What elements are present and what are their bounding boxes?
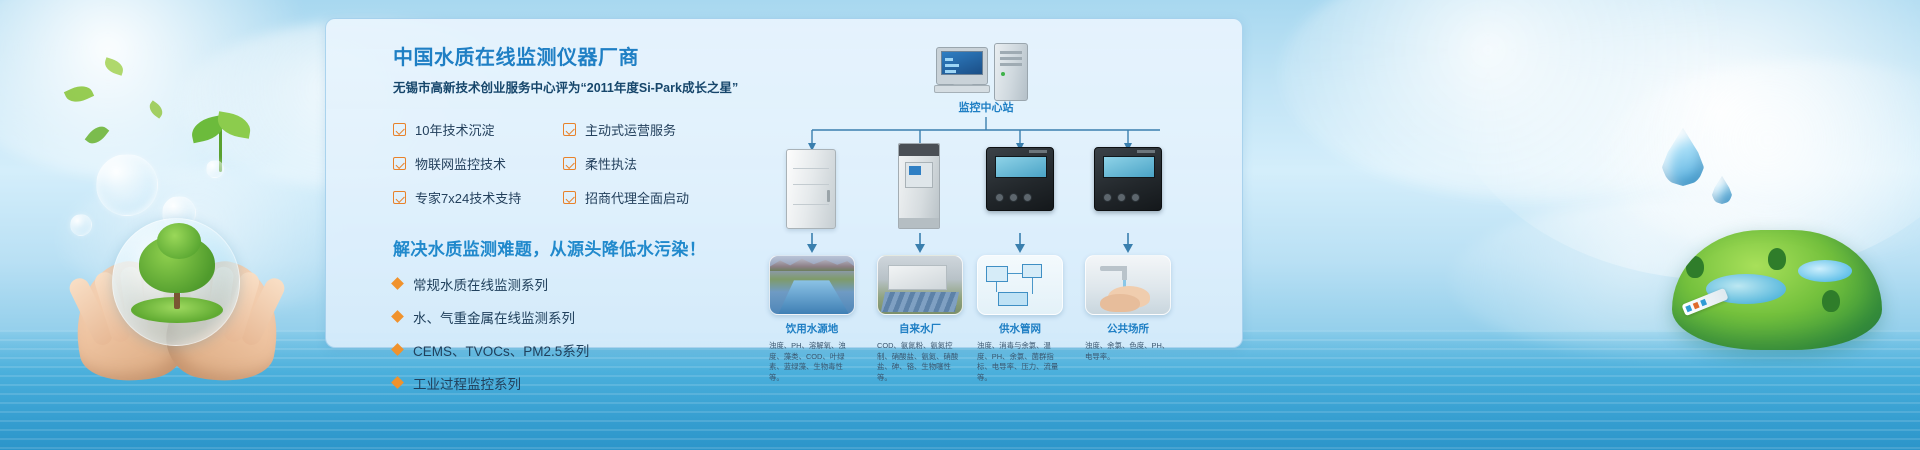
scene-photo-public-place [1085,255,1171,315]
monitoring-system-diagram: 监控中心站 [756,33,1226,343]
list-item-label: 常规水质在线监测系列 [413,274,548,294]
diamond-bullet-icon [391,277,404,290]
checkbox-checked-icon [393,157,406,170]
scene-photo-pipe-network [977,255,1063,315]
checkbox-checked-icon [393,123,406,136]
device-water-cabinet-icon [776,143,848,229]
checklist-item-label: 主动式运营服务 [585,120,676,139]
list-item: 工业过程监控系列 [393,373,743,393]
checkbox-checked-icon [563,123,576,136]
bubble [206,160,224,178]
diamond-bullet-icon [391,343,404,356]
checklist-item: 专家7x24技术支持 [393,188,563,207]
section-heading: 解决水质监测难题，从源头降低水污染！ [393,235,743,260]
scene-label: 公共场所 [1085,321,1171,336]
list-item-label: CEMS、TVOCs、PM2.5系列 [413,340,589,360]
list-item: CEMS、TVOCs、PM2.5系列 [393,340,743,360]
page-title: 中国水质在线监测仪器厂商 [393,46,743,70]
grass-earth-illustration [1672,230,1882,350]
scene-description: 浊度、余氯、色度、PH、电导率。 [1085,341,1171,362]
monitoring-center-label: 监控中心站 [906,99,1066,115]
device-analyzer-rack-icon [884,143,956,229]
scene-card: 自来水厂 COD、氨氮粉、氨氮控制、硝酸盐、氨氮、硝酸盐、砷、铬、生物噻性等。 [877,255,963,384]
scene-description: COD、氨氮粉、氨氮控制、硝酸盐、氨氮、硝酸盐、砷、铬、生物噻性等。 [877,341,963,384]
scene-card: 公共场所 浊度、余氯、色度、PH、电导率。 [1085,255,1171,362]
device-transmitter-icon [1092,143,1164,229]
checklist-item-label: 专家7x24技术支持 [415,188,521,207]
checklist-item-label: 10年技术沉淀 [415,120,494,139]
checkbox-checked-icon [563,191,576,204]
checkbox-checked-icon [563,157,576,170]
checkbox-checked-icon [393,191,406,204]
scene-photo-water-plant [877,255,963,315]
device-row [756,143,1226,233]
checklist-item-label: 招商代理全面启动 [585,188,689,207]
product-series-list: 常规水质在线监测系列 水、气重金属在线监测系列 CEMS、TVOCs、PM2.5… [393,274,743,393]
scene-description: 浊度、消毒与余氯、温度、PH、余氯、菌群指标、电导率、压力、流量等。 [977,341,1063,384]
scene-label: 供水管网 [977,321,1063,336]
diamond-bullet-icon [391,310,404,323]
device-controller-icon [984,143,1056,229]
list-item: 常规水质在线监测系列 [393,274,743,294]
checklist-item: 10年技术沉淀 [393,120,563,139]
bubble [96,154,158,216]
list-item: 水、气重金属在线监测系列 [393,307,743,327]
checklist-item: 柔性执法 [563,154,733,173]
checklist-item: 招商代理全面启动 [563,188,733,207]
checklist-item: 物联网监控技术 [393,154,563,173]
checklist-item-label: 柔性执法 [585,154,637,173]
scene-card: 供水管网 浊度、消毒与余氯、温度、PH、余氯、菌群指标、电导率、压力、流量等。 [977,255,1063,384]
list-item-label: 工业过程监控系列 [413,373,521,393]
diamond-bullet-icon [391,376,404,389]
main-panel: 中国水质在线监测仪器厂商 无锡市高新技术创业服务中心评为“2011年度Si-Pa… [325,18,1243,348]
scene-description: 浊度、PH、溶解氧、浊度、藻类、COD、叶绿素、蓝绿藻、生物毒性等。 [769,341,855,384]
left-content-column: 中国水质在线监测仪器厂商 无锡市高新技术创业服务中心评为“2011年度Si-Pa… [393,46,743,393]
checklist-item: 主动式运营服务 [563,120,733,139]
list-item-label: 水、气重金属在线监测系列 [413,307,575,327]
glass-globe-with-tree [112,218,240,346]
scene-label: 饮用水源地 [769,321,855,336]
monitoring-center-computer-icon [936,43,1036,95]
scene-label: 自来水厂 [877,321,963,336]
scene-card: 饮用水源地 浊度、PH、溶解氧、浊度、藻类、COD、叶绿素、蓝绿藻、生物毒性等。 [769,255,855,384]
hands-holding-globe-illustration [60,232,310,382]
feature-checklist: 10年技术沉淀 主动式运营服务 物联网监控技术 柔性执法 专家7x24技术支持 … [393,120,743,207]
page-subtitle: 无锡市高新技术创业服务中心评为“2011年度Si-Park成长之星” [393,80,743,98]
scene-photo-drinking-water-source [769,255,855,315]
checklist-item-label: 物联网监控技术 [415,154,506,173]
